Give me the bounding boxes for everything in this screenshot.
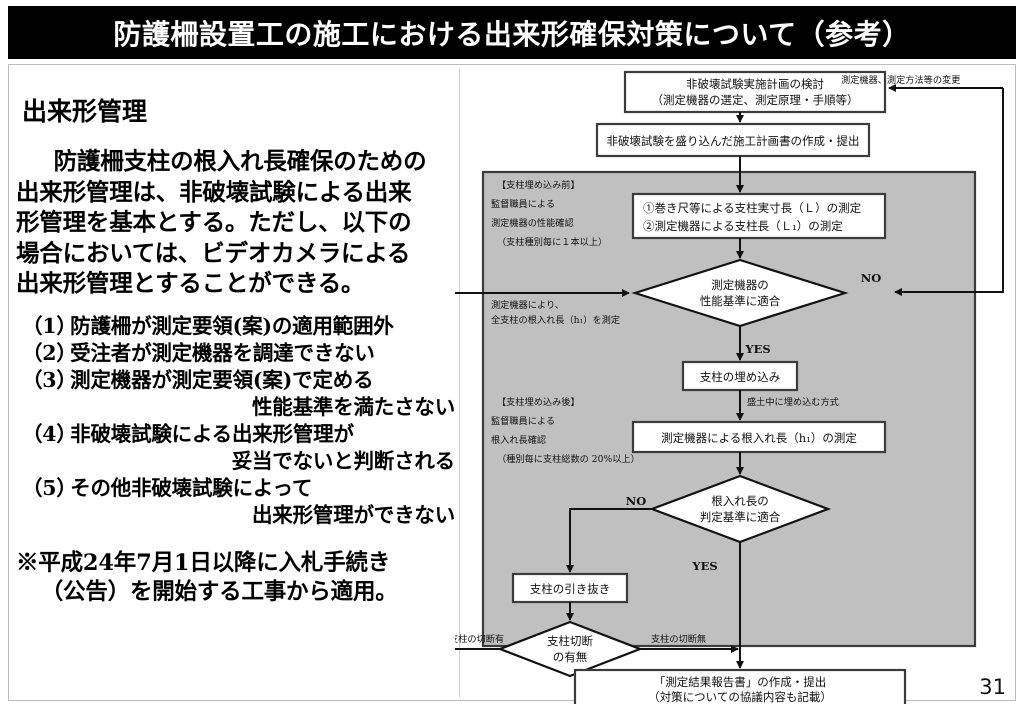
panel-post-title: 【支柱埋め込み後】 — [497, 396, 580, 408]
intro-line-2: 出来形管理は、非破壊試験による出来 — [16, 178, 411, 206]
box-report-line1: 「測定結果報告書」の作成・提出 — [654, 675, 827, 689]
list-item-continuation: 妥当でないと判断される — [22, 448, 459, 475]
list-item-number: （2） — [22, 340, 70, 367]
box-measure-line1: ①巻き尺等による支柱実寸長（Ｌ）の測定 — [643, 201, 862, 215]
intro-line-3: 形管理を基本とする。ただし、以下の — [16, 208, 411, 236]
footnote-line-2: （公告）を開始する工事から適用。 — [16, 578, 459, 607]
box-plan-line1: 非破壊試験実施計画の検討 — [686, 77, 824, 91]
note-meter-line2: 全支柱の根入れ長（h₁）を測定 — [491, 314, 620, 326]
flowchart: 非破壊試験実施計画の検討 （測定機器の選定、測定原理・手順等） 測定機器、測定方… — [455, 64, 1015, 704]
list-item-text: 測定機器が測定要領(案)で定める — [70, 368, 373, 392]
label-cut-no: 支柱の切断無 — [651, 633, 706, 645]
intro-paragraph: 防護柵支柱の根入れ長確保のための 出来形管理は、非破壊試験による出来 形管理を基… — [16, 146, 459, 299]
title-bar: 防護柵設置工の施工における出来形確保対策について（参考） — [8, 6, 1016, 59]
panel-post-line2: 根入れ長確認 — [491, 434, 546, 446]
panel-post-line1: 監督職員による — [491, 415, 555, 427]
left-text-column: 出来形管理 防護柵支柱の根入れ長確保のための 出来形管理は、非破壊試験による出来… — [14, 76, 459, 686]
decision2-line1: 根入れ長の — [711, 494, 769, 508]
intro-line-4: 場合においては、ビデオカメラによる — [16, 239, 410, 267]
section-heading: 出来形管理 — [22, 92, 459, 128]
list-item-number: （5） — [22, 475, 70, 502]
decision2-no-label: NO — [626, 494, 647, 508]
panel-pre-line1: 監督職員による — [491, 198, 555, 210]
decision1-line1: 測定機器の — [711, 278, 769, 292]
label-cut-yes: 支柱の切断有 — [455, 633, 504, 645]
panel-post-line3: （種別毎に支柱総数の 20%以上） — [497, 453, 640, 465]
decision3-line2: の有無 — [553, 650, 588, 664]
decision2-yes-label: YES — [691, 559, 717, 573]
panel-pre-line2: 測定機器の性能確認 — [491, 217, 574, 229]
label-fill: 盛土中に埋め込む方式 — [747, 396, 839, 408]
list-item: （4）非破壊試験による出来形管理が 妥当でないと判断される — [22, 421, 459, 475]
box-pullout-label: 支柱の引き抜き — [530, 582, 611, 596]
panel-pre-line3: （支柱種別毎に１本以上） — [497, 236, 607, 248]
decision1-line2: 性能基準に適合 — [700, 294, 781, 308]
list-item-continuation: 出来形管理ができない — [22, 502, 459, 529]
list-item-continuation: 性能基準を満たさない — [22, 394, 459, 421]
slide-root: 防護柵設置工の施工における出来形確保対策について（参考） 出来形管理 防護柵支柱… — [0, 0, 1024, 709]
page-number: 31 — [979, 675, 1006, 699]
conditions-list: （1）防護柵が測定要領(案)の適用範囲外 （2）受注者が測定機器を調達できない … — [22, 313, 459, 529]
note-meter-line1: 測定機器により、 — [491, 299, 564, 311]
decision2-line2: 判定基準に適合 — [700, 510, 781, 524]
list-item: （3）測定機器が測定要領(案)で定める 性能基準を満たさない — [22, 367, 459, 421]
intro-line-1: 防護柵支柱の根入れ長確保のための — [54, 147, 427, 175]
panel-pre-title: 【支柱埋め込み前】 — [497, 179, 580, 191]
decision1-yes-label: YES — [744, 342, 770, 356]
list-item-text: 受注者が測定機器を調達できない — [70, 341, 375, 365]
box-submit-label: 非破壊試験を盛り込んだ施工計画書の作成・提出 — [607, 134, 860, 148]
list-item-text: 防護柵が測定要領(案)の適用範囲外 — [70, 314, 394, 338]
list-item-text: 非破壊試験による出来形管理が — [70, 422, 354, 446]
list-item-number: （1） — [22, 313, 70, 340]
decision1-no-label: NO — [861, 271, 882, 285]
label-change: 測定機器、測定方法等の変更 — [841, 74, 960, 86]
list-item-text: その他非破壊試験によって — [70, 476, 312, 500]
list-item: （2）受注者が測定機器を調達できない — [22, 340, 459, 367]
list-item-number: （4） — [22, 421, 70, 448]
decision3-line1: 支柱切断 — [547, 634, 593, 648]
box-measure-depth-label: 測定機器による根入れ長（h₁）の測定 — [661, 431, 857, 445]
page-title: 防護柵設置工の施工における出来形確保対策について（参考） — [113, 13, 910, 53]
box-report-line2: （対策についての協議内容も記載） — [648, 690, 832, 704]
box-embed-label: 支柱の埋め込み — [700, 370, 781, 384]
list-item-number: （3） — [22, 367, 70, 394]
box-plan-line2: （測定機器の選定、測定原理・手順等） — [652, 93, 859, 107]
footnote: ※平成24年7月1日以降に入札手続き （公告）を開始する工事から適用。 — [16, 549, 459, 608]
footnote-line-1: ※平成24年7月1日以降に入札手続き — [16, 550, 390, 576]
list-item: （1）防護柵が測定要領(案)の適用範囲外 — [22, 313, 459, 340]
box-measure-line2: ②測定機器による支柱長（Ｌ₁）の測定 — [643, 219, 843, 233]
intro-line-5: 出来形管理とすることができる。 — [16, 269, 364, 297]
list-item: （5）その他非破壊試験によって 出来形管理ができない — [22, 475, 459, 529]
